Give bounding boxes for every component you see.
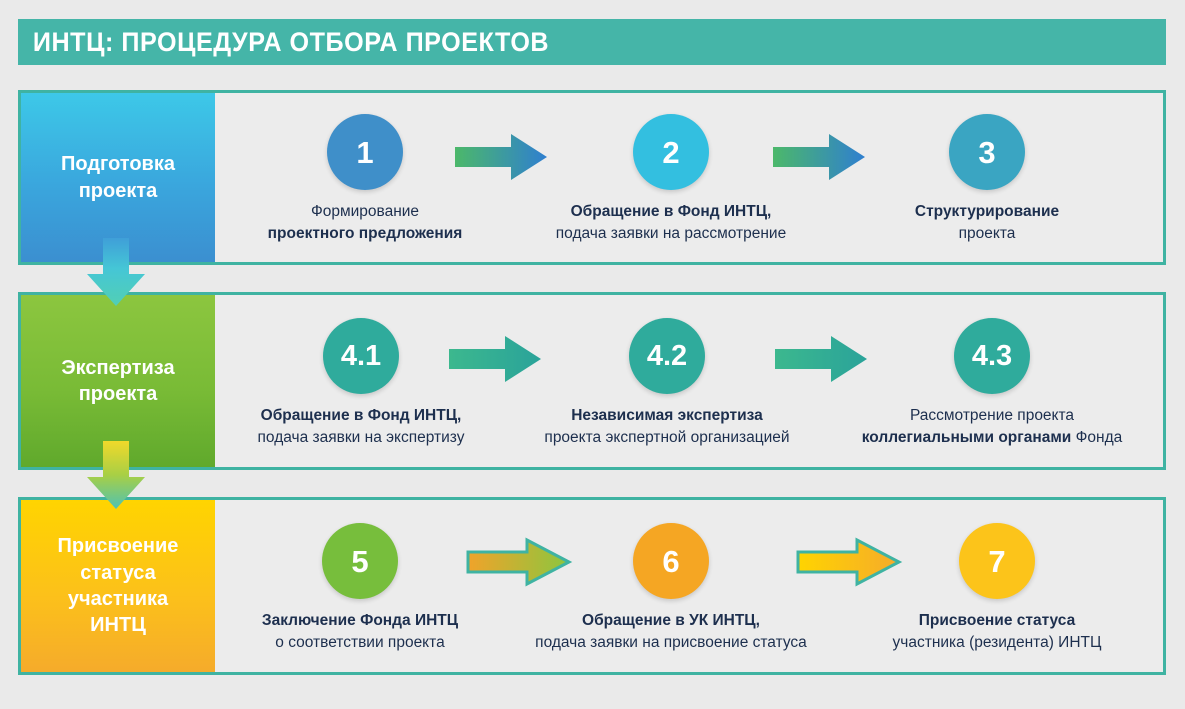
- stage-label-preparation: Подготовка проекта: [21, 93, 215, 262]
- step-6-caption-line-2: подача заявки на присвоение статуса: [535, 632, 807, 654]
- step-3-caption: Структурирование проекта: [915, 201, 1059, 246]
- step-5-caption-line-2: о соответствии проекта: [262, 632, 458, 654]
- step-4-1-caption-line-2: подача заявки на экспертизу: [258, 427, 465, 449]
- step-3-number: 3: [978, 137, 995, 168]
- stage-label-line-1: Подготовка: [61, 151, 175, 177]
- step-4-1-number: 4.1: [341, 342, 381, 371]
- step-7-caption-line-2: участника (резидента) ИНТЦ: [893, 632, 1102, 654]
- step-5-caption: Заключение Фонда ИНТЦ о соответствии про…: [262, 610, 458, 655]
- step-4-3-caption-line-1: Рассмотрение проекта: [862, 405, 1123, 427]
- step-7-caption-line-1: Присвоение статуса: [893, 610, 1102, 632]
- stage-label-line-1: Присвоение: [58, 533, 179, 559]
- arrow-step-5-to-6-icon: [465, 536, 573, 588]
- stage-label-line-4: ИНТЦ: [58, 612, 179, 638]
- stage-row-expertise: Экспертиза проекта 4.1 Обращение в Фонд …: [18, 292, 1166, 470]
- arrow-step-1-to-2-icon: [453, 131, 549, 183]
- stage-row-preparation: Подготовка проекта 1 Формирование проект…: [18, 90, 1166, 265]
- arrow-step-6-to-7-icon: [795, 536, 903, 588]
- stage-label-line-2: проекта: [61, 178, 175, 204]
- page-title: ИНТЦ: ПРОЦЕДУРА ОТБОРА ПРОЕКТОВ: [18, 27, 549, 58]
- stage-row-status: Присвоение статуса участника ИНТЦ 5 Закл…: [18, 497, 1166, 675]
- stage-steps-preparation: 1 Формирование проектного предложения 2 …: [215, 93, 1163, 262]
- step-4-1-caption-line-1: Обращение в Фонд ИНТЦ,: [258, 405, 465, 427]
- step-6-number: 6: [662, 546, 679, 577]
- step-4-3-number: 4.3: [972, 342, 1012, 371]
- step-6-caption-line-1: Обращение в УК ИНТЦ,: [535, 610, 807, 632]
- step-4-2-number-badge: 4.2: [629, 318, 705, 394]
- step-2-caption: Обращение в Фонд ИНТЦ, подача заявки на …: [556, 201, 786, 246]
- infographic-root: ИНТЦ: ПРОЦЕДУРА ОТБОРА ПРОЕКТОВ Подготов…: [0, 0, 1185, 709]
- stage-label-line-2: статуса: [58, 560, 179, 586]
- step-3-caption-line-2: проекта: [915, 223, 1059, 245]
- step-4-2-number: 4.2: [647, 342, 687, 371]
- step-4-3-caption-tail: Фонда: [1071, 429, 1122, 446]
- step-3[interactable]: 3 Структурирование проекта: [827, 93, 1147, 246]
- step-1-number: 1: [356, 137, 373, 168]
- step-1-caption-line-1: Формирование: [268, 201, 463, 223]
- step-2-number: 2: [662, 137, 679, 168]
- step-3-caption-line-1: Структурирование: [915, 201, 1059, 223]
- step-4-3-caption: Рассмотрение проекта коллегиальными орга…: [862, 405, 1123, 450]
- arrow-step-2-to-3-icon: [771, 131, 867, 183]
- stage-label-line-1: Экспертиза: [61, 355, 174, 381]
- step-1-number-badge: 1: [327, 114, 403, 190]
- step-5-number: 5: [351, 546, 368, 577]
- step-4-3-number-badge: 4.3: [954, 318, 1030, 394]
- step-7-number-badge: 7: [959, 523, 1035, 599]
- step-4-3-caption-bold: коллегиальными органами: [862, 429, 1072, 446]
- stage-steps-expertise: 4.1 Обращение в Фонд ИНТЦ, подача заявки…: [215, 295, 1163, 467]
- step-4-1-number-badge: 4.1: [323, 318, 399, 394]
- step-3-number-badge: 3: [949, 114, 1025, 190]
- step-4-2-caption: Независимая экспертиза проекта экспертно…: [544, 405, 789, 450]
- step-2-caption-line-1: Обращение в Фонд ИНТЦ,: [556, 201, 786, 223]
- step-2-number-badge: 2: [633, 114, 709, 190]
- down-arrow-stage1-to-stage2-icon: [84, 238, 148, 308]
- stage-label-status: Присвоение статуса участника ИНТЦ: [21, 500, 215, 672]
- page-title-bar: ИНТЦ: ПРОЦЕДУРА ОТБОРА ПРОЕКТОВ: [18, 19, 1166, 65]
- arrow-step-4-1-to-4-2-icon: [447, 333, 543, 385]
- stage-steps-status: 5 Заключение Фонда ИНТЦ о соответствии п…: [215, 500, 1163, 672]
- step-6-number-badge: 6: [633, 523, 709, 599]
- down-arrow-stage2-to-stage3-icon: [84, 441, 148, 511]
- step-4-2-caption-line-1: Независимая экспертиза: [544, 405, 789, 427]
- arrow-step-4-2-to-4-3-icon: [773, 333, 869, 385]
- step-7-caption: Присвоение статуса участника (резидента)…: [893, 610, 1102, 655]
- step-5-caption-line-1: Заключение Фонда ИНТЦ: [262, 610, 458, 632]
- step-4-2-caption-line-2: проекта экспертной организацией: [544, 427, 789, 449]
- step-1-caption-line-2: проектного предложения: [268, 223, 463, 245]
- step-7-number: 7: [988, 546, 1005, 577]
- step-1-caption: Формирование проектного предложения: [268, 201, 463, 246]
- step-4-3[interactable]: 4.3 Рассмотрение проекта коллегиальными …: [827, 295, 1157, 450]
- stage-label-line-3: участника: [58, 586, 179, 612]
- step-5-number-badge: 5: [322, 523, 398, 599]
- stage-label-line-2: проекта: [61, 381, 174, 407]
- step-2-caption-line-2: подача заявки на рассмотрение: [556, 223, 786, 245]
- step-6-caption: Обращение в УК ИНТЦ, подача заявки на пр…: [535, 610, 807, 655]
- step-5[interactable]: 5 Заключение Фонда ИНТЦ о соответствии п…: [215, 500, 505, 655]
- step-4-3-caption-line-2: коллегиальными органами Фонда: [862, 427, 1123, 449]
- step-4-1-caption: Обращение в Фонд ИНТЦ, подача заявки на …: [258, 405, 465, 450]
